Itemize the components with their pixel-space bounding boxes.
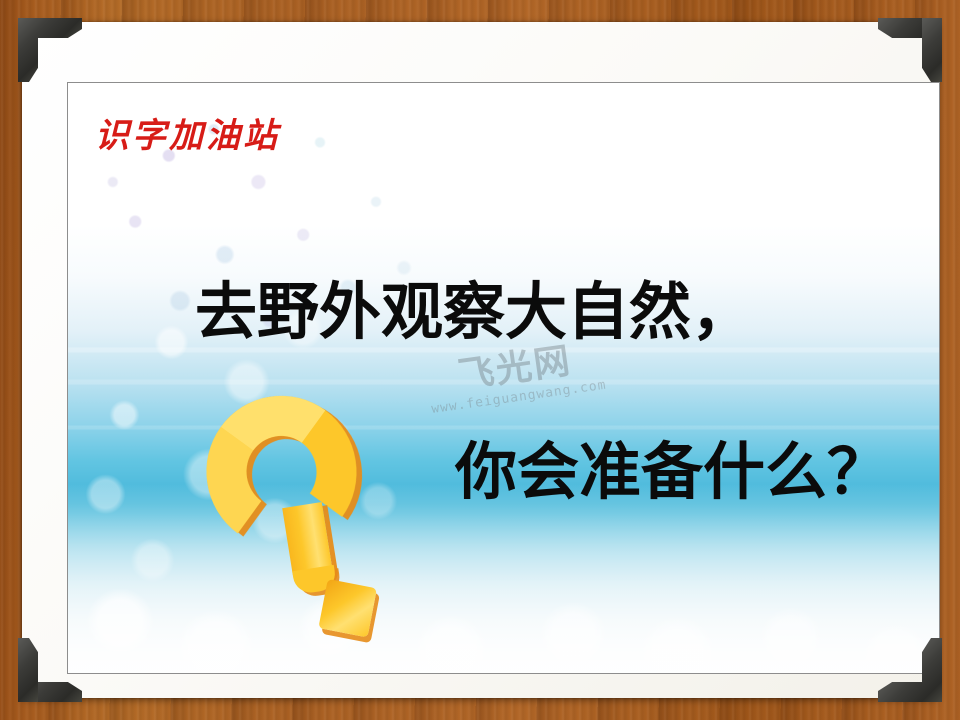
corner-bracket-arm-vertical bbox=[922, 638, 942, 702]
slide-body-line-2: 你会准备什么？ bbox=[455, 421, 889, 511]
slide-body-line-1: 去野外观察大自然， bbox=[195, 261, 753, 351]
corner-bracket-bottom-right bbox=[878, 638, 942, 702]
slide-canvas: 飞光网 www.feiguangwang.com 识字加油站 去野外观察大自然，… bbox=[67, 82, 940, 674]
corner-bracket-bottom-left bbox=[18, 638, 82, 702]
corner-bracket-top-right bbox=[878, 18, 942, 82]
question-mark-icon bbox=[178, 378, 429, 659]
question-mark-hook-highlight bbox=[196, 385, 368, 559]
corner-bracket-arm-vertical bbox=[922, 18, 942, 82]
slide-title: 识字加油站 bbox=[95, 108, 280, 157]
corner-bracket-arm-vertical bbox=[18, 638, 38, 702]
corner-bracket-arm-vertical bbox=[18, 18, 38, 82]
corner-bracket-top-left bbox=[18, 18, 82, 82]
question-mark-dot bbox=[318, 579, 377, 638]
photo-mat-frame: 飞光网 www.feiguangwang.com 识字加油站 去野外观察大自然，… bbox=[22, 22, 938, 698]
